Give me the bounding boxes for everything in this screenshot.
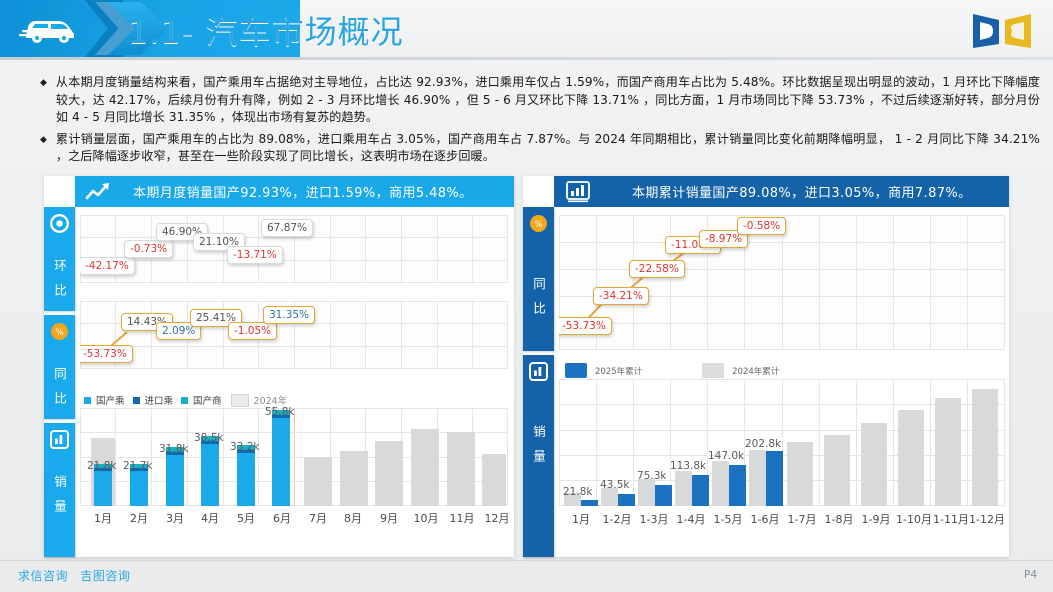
- bar-domestic-pc-3: [166, 455, 184, 506]
- legend-label-2024: 2024年: [254, 393, 288, 407]
- bar-value-cum-4: 113.8k: [670, 460, 706, 472]
- bar-2024cum-6: [749, 450, 766, 506]
- bar-value-2: 21.7k: [123, 460, 152, 472]
- callout-ryoy-1: -53.73%: [559, 317, 612, 335]
- axis-label-10: 10月: [409, 510, 443, 526]
- left-yoy-chart: -53.73% 14.43% 2.09% 25.41% -1.05% 31.35…: [80, 301, 508, 369]
- bar-2024-9: [375, 441, 403, 506]
- tab-yoy-label: 同 比: [52, 367, 67, 408]
- callout-mom-1: -42.17%: [80, 257, 135, 275]
- axis-label-cum-8: 1-8月: [820, 511, 858, 527]
- callout-yoy-6: 31.35%: [263, 306, 315, 324]
- diamond-bullet-icon: ◆: [40, 132, 47, 149]
- callout-yoy-5: -1.05%: [228, 322, 277, 340]
- bar-2024cum-7: [787, 442, 813, 506]
- header-divider: [0, 57, 1053, 60]
- bar-2024cum-11: [935, 398, 961, 506]
- bar-domestic-pc-1: [94, 471, 112, 506]
- left-chart-legend: 国产乘 进口乘 国产商 2024年: [84, 393, 287, 407]
- bar-2024-10: [411, 429, 439, 506]
- left-tab-column: 环 比 % 同 比 销 量: [44, 207, 75, 557]
- axis-label-cum-12: 1-12月: [965, 511, 1005, 527]
- tab-sales-cumulative-label: 销 量: [531, 425, 546, 466]
- legend-swatch-domestic-cv: [181, 397, 188, 404]
- tab-sales-label: 销 量: [52, 475, 67, 516]
- page-number: P4: [1024, 569, 1037, 581]
- footer-divider: [0, 560, 1053, 561]
- right-tab-column: % 同 比 销 量: [523, 207, 554, 557]
- bar-value-cum-1: 21.8k: [563, 486, 592, 498]
- axis-label-cum-7: 1-7月: [783, 511, 821, 527]
- axis-label-cum-6: 1-6月: [746, 511, 784, 527]
- axis-label-8: 8月: [339, 510, 367, 526]
- legend-label-2025-cumulative: 2025年累计: [595, 365, 642, 377]
- legend-swatch-2024: [231, 394, 249, 407]
- axis-label-1: 1月: [89, 510, 117, 526]
- bar-2024-7: [304, 457, 332, 506]
- right-panel-title: 本期累计销量国产89.08%，进口3.05%，商用7.87%。: [632, 182, 972, 201]
- left-mom-chart: -42.17% -0.73% 46.90% 21.10% -13.71% 67.…: [80, 215, 508, 283]
- bar-chart-icon: [50, 430, 69, 449]
- trend-up-icon: [79, 176, 119, 207]
- axis-label-2: 2月: [125, 510, 153, 526]
- tab-sales[interactable]: 销 量: [44, 423, 75, 557]
- footer-brand-1: 求信咨询: [18, 569, 68, 583]
- footer-brand-2: 吉图咨询: [80, 569, 130, 583]
- bullet-text: 从本期月度销量结构来看，国产乘用车占据绝对主导地位，占比达 92.93%，进口乘…: [56, 74, 1040, 127]
- bar-2024cum-3: [638, 479, 655, 506]
- page-header: 1.1- 汽车市场概况: [0, 0, 1053, 60]
- bullet-text: 累计销量层面，国产乘用车的占比为 89.08%，进口乘用车占 3.05%，国产商…: [56, 131, 1040, 166]
- bar-2024cum-12: [972, 389, 998, 506]
- svg-text:%: %: [534, 220, 543, 230]
- bar-value-4: 38.5k: [194, 432, 223, 444]
- bar-2025cum-5: [729, 465, 746, 506]
- legend-swatch-2024-cumulative: [702, 363, 724, 378]
- callout-mom-2: -0.73%: [124, 240, 173, 258]
- bar-value-cum-2: 43.5k: [600, 479, 629, 491]
- bar-2025cum-6: [766, 451, 783, 506]
- axis-label-cum-4: 1-4月: [672, 511, 710, 527]
- legend-label-import-pc: 进口乘: [145, 393, 174, 407]
- axis-label-cum-5: 1-5月: [709, 511, 747, 527]
- diamond-bullet-icon: ◆: [40, 75, 47, 92]
- axis-label-3: 3月: [161, 510, 189, 526]
- bar-2024cum-9: [861, 423, 887, 506]
- bar-value-6: 55.8k: [265, 406, 294, 418]
- tab-yoy-cumulative-label: 同 比: [531, 277, 546, 318]
- bar-value-1: 21.8k: [87, 460, 116, 472]
- axis-label-4: 4月: [196, 510, 224, 526]
- axis-label-12: 12月: [480, 510, 508, 526]
- tab-yoy[interactable]: % 同 比: [44, 315, 75, 419]
- axis-label-9: 9月: [375, 510, 403, 526]
- bullet-item: ◆ 从本期月度销量结构来看，国产乘用车占据绝对主导地位，占比达 92.93%，进…: [40, 74, 1040, 127]
- axis-label-11: 11月: [445, 510, 479, 526]
- percent-icon: %: [50, 322, 69, 341]
- axis-label-cum-9: 1-9月: [857, 511, 895, 527]
- bar-2024-8: [340, 451, 368, 506]
- bar-2024-11: [447, 432, 475, 506]
- bar-2025cum-3: [655, 485, 672, 506]
- bar-2024cum-4: [675, 471, 692, 506]
- legend-label-2024-cumulative: 2024年累计: [732, 365, 779, 377]
- legend-swatch-domestic-pc: [84, 397, 91, 404]
- car-icon: [18, 12, 80, 46]
- bar-2024cum-5: [712, 461, 729, 506]
- bar-2025cum-1: [581, 500, 598, 506]
- bar-value-cum-6: 202.8k: [745, 438, 781, 450]
- callout-ryoy-2: -34.21%: [593, 287, 649, 305]
- target-icon: [50, 214, 69, 233]
- callout-mom-5: -13.71%: [227, 246, 283, 264]
- legend-swatch-2025-cumulative: [565, 363, 587, 378]
- axis-label-cum-3: 1-3月: [635, 511, 673, 527]
- bar-2024cum-10: [898, 410, 924, 506]
- callout-ryoy-3: -22.58%: [629, 260, 685, 278]
- svg-text:%: %: [55, 328, 64, 338]
- legend-label-domestic-cv: 国产商: [193, 393, 222, 407]
- bar-2025cum-2: [618, 494, 635, 506]
- axis-label-cum-2: 1-2月: [598, 511, 636, 527]
- right-yoy-chart: -53.73% -34.21% -22.58% -11.06% -8.97% -…: [559, 215, 1005, 350]
- right-panel-header: 本期累计销量国产89.08%，进口3.05%，商用7.87%。: [554, 176, 1009, 207]
- bar-value-5b: 33.2k: [230, 441, 259, 453]
- bar-value-3: 31.8k: [159, 443, 188, 455]
- axis-label-6: 6月: [268, 510, 296, 526]
- right-sales-chart: 2025年累计 2024年累计: [559, 361, 1005, 527]
- legend-label-domestic-pc: 国产乘: [96, 393, 125, 407]
- bar-value-cum-5: 147.0k: [708, 450, 744, 462]
- bullet-item: ◆ 累计销量层面，国产乘用车的占比为 89.08%，进口乘用车占 3.05%，国…: [40, 131, 1040, 166]
- callout-yoy-1: -53.73%: [80, 345, 133, 363]
- left-panel-title: 本期月度销量国产92.93%，进口1.59%，商用5.48%。: [133, 182, 473, 201]
- callout-ryoy-6: -0.58%: [737, 217, 786, 235]
- bar-value-cum-3: 75.3k: [637, 470, 666, 482]
- bar-2024cum-8: [824, 435, 850, 506]
- chart-grid: [559, 215, 1005, 350]
- bar-chart-icon: [529, 362, 548, 381]
- tab-mom-label: 环 比: [52, 259, 67, 300]
- bar-2025cum-4: [692, 475, 709, 506]
- axis-label-5: 5月: [232, 510, 260, 526]
- left-panel: 本期月度销量国产92.93%，进口1.59%，商用5.48%。 环 比 % 同 …: [44, 176, 514, 557]
- bar-domestic-pc-6: [272, 418, 290, 506]
- axis-label-cum-1: 1月: [567, 511, 595, 527]
- percent-icon: %: [529, 214, 548, 233]
- bar-domestic-pc-4: [201, 444, 219, 506]
- bar-2024-12: [482, 454, 506, 506]
- left-sales-chart: 国产乘 进口乘 国产商 2024年: [80, 392, 508, 526]
- tab-mom[interactable]: 环 比: [44, 207, 75, 311]
- page-title: 1.1- 汽车市场概况: [128, 6, 404, 54]
- tab-yoy-cumulative[interactable]: % 同 比: [523, 207, 554, 351]
- right-panel: 本期累计销量国产89.08%，进口3.05%，商用7.87%。 % 同 比 销 …: [523, 176, 1009, 557]
- legend-swatch-import-pc: [133, 397, 140, 404]
- callout-mom-6: 67.87%: [261, 219, 313, 237]
- tab-sales-cumulative[interactable]: 销 量: [523, 355, 554, 557]
- bullet-list: ◆ 从本期月度销量结构来看，国产乘用车占据绝对主导地位，占比达 92.93%，进…: [40, 74, 1040, 170]
- right-chart-legend: 2025年累计 2024年累计: [565, 363, 779, 378]
- db-logo-icon: [969, 10, 1035, 50]
- bar-domestic-pc-2: [130, 471, 148, 506]
- axis-label-7: 7月: [304, 510, 332, 526]
- bar-chart-report-icon: [558, 176, 598, 207]
- left-panel-header: 本期月度销量国产92.93%，进口1.59%，商用5.48%。: [75, 176, 514, 207]
- bar-domestic-pc-5: [237, 453, 255, 506]
- footer-brand: 求信咨询 吉图咨询: [18, 567, 138, 584]
